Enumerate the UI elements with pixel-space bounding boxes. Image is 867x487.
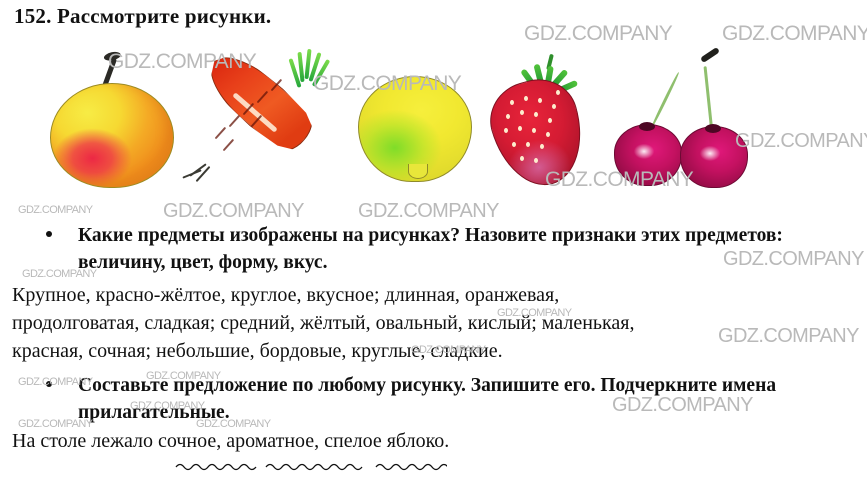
adjective-wavy-underline bbox=[175, 461, 257, 471]
task-1-question: Какие предметы изображены на рисунках? Н… bbox=[78, 222, 858, 276]
lemon-nub bbox=[408, 164, 428, 179]
illustration-strip bbox=[0, 22, 867, 202]
cherry-body bbox=[614, 124, 682, 186]
watermark-text: GDZ.COMPANY bbox=[18, 204, 92, 216]
strawberry-illustration bbox=[486, 50, 614, 200]
strawberry-seed bbox=[546, 132, 550, 137]
carrot-illustration bbox=[175, 40, 335, 210]
cherry-stalk-icon bbox=[704, 66, 713, 128]
strawberry-seed bbox=[534, 158, 538, 163]
strawberry-seed bbox=[526, 142, 530, 147]
cherry-stem-joint bbox=[700, 47, 720, 63]
carrot-ridge bbox=[223, 139, 235, 152]
strawberry-seed bbox=[512, 142, 516, 147]
strawberry-body bbox=[481, 70, 595, 196]
strawberry-seed bbox=[524, 96, 528, 101]
strawberry-seed bbox=[532, 128, 536, 133]
task-2-question-row: Составьте предложение по любому рисунку.… bbox=[46, 372, 858, 426]
strawberry-seed bbox=[520, 156, 524, 161]
exercise-page: 152. Рассмотрите рисунки. bbox=[0, 0, 867, 487]
cherry-stalk-icon bbox=[650, 72, 680, 129]
strawberry-seed bbox=[510, 100, 514, 105]
adjective-wavy-underline bbox=[265, 461, 365, 471]
strawberry-seed bbox=[540, 144, 544, 149]
bullet-marker bbox=[46, 381, 52, 387]
cherry-dimple bbox=[639, 122, 655, 131]
adjective-wavy-underline bbox=[375, 461, 447, 471]
task-2-question: Составьте предложение по любому рисунку.… bbox=[78, 372, 858, 426]
task-1-question-row: Какие предметы изображены на рисунках? Н… bbox=[46, 222, 858, 276]
strawberry-seed bbox=[538, 98, 542, 103]
strawberry-seed bbox=[556, 90, 560, 95]
strawberry-seed bbox=[534, 112, 538, 117]
lemon-illustration bbox=[352, 60, 482, 190]
task-1-answer-line: продолговатая, сладкая; средний, жёлтый,… bbox=[12, 310, 635, 336]
strawberry-seed bbox=[552, 104, 556, 109]
watermark-text: GDZ.COMPANY bbox=[358, 200, 499, 223]
strawberry-seed bbox=[518, 126, 522, 131]
cherry-dimple bbox=[705, 124, 721, 133]
apple-illustration bbox=[42, 56, 180, 186]
strawberry-seed bbox=[548, 118, 552, 123]
strawberry-seed bbox=[520, 110, 524, 115]
cherries-illustration bbox=[612, 32, 772, 202]
carrot-ridge bbox=[215, 127, 227, 140]
carrot-ridge bbox=[229, 115, 241, 128]
bullet-marker bbox=[46, 231, 52, 237]
task-1-answer-line: Крупное, красно-жёлтое, круглое, вкусное… bbox=[12, 282, 559, 308]
strawberry-seed bbox=[504, 128, 508, 133]
apple-body bbox=[50, 83, 174, 188]
task-2-answer-line: На столе лежало сочное, ароматное, спело… bbox=[12, 428, 449, 454]
watermark-text: GDZ.COMPANY bbox=[718, 325, 859, 348]
task-1-answer-line: красная, сочная; небольшие, бордовые, кр… bbox=[12, 338, 503, 364]
cherry-body bbox=[680, 126, 748, 188]
strawberry-seed bbox=[506, 114, 510, 119]
